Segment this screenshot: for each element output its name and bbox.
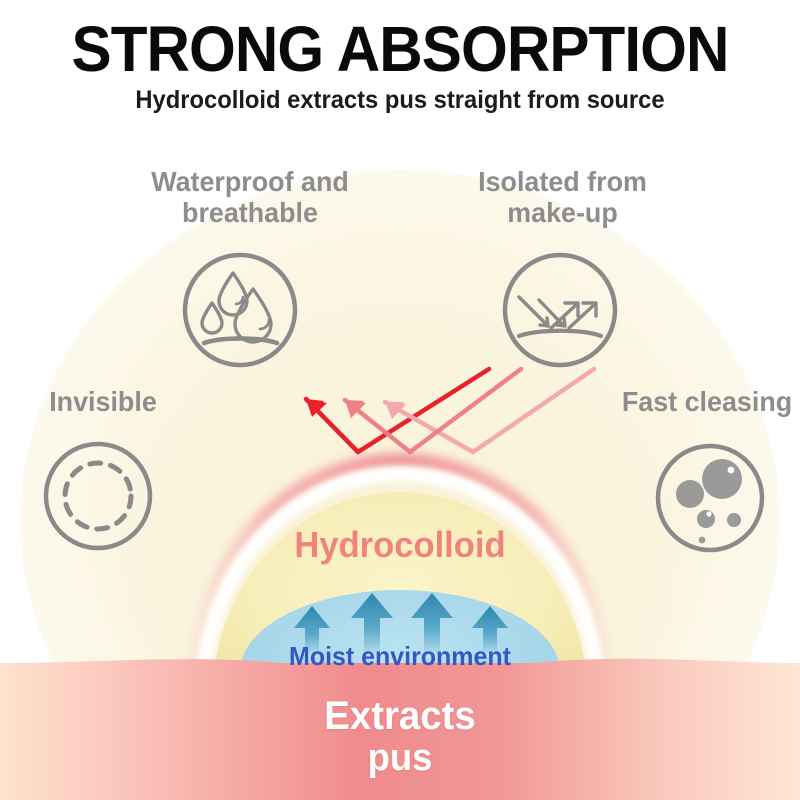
feature-label-isolated: Isolated from make-up [450, 166, 676, 228]
extracts-pus-text: Extracts pus [16, 695, 784, 779]
reflection-arrows-icon [519, 297, 601, 336]
reflection-arrow-medium [345, 369, 521, 452]
icon-ring [658, 446, 762, 550]
water-droplets-icon [202, 273, 277, 343]
feature-icon-waterproof [181, 251, 299, 374]
icon-ring [46, 444, 150, 548]
page-subtitle: Hydrocolloid extracts pus straight from … [20, 86, 780, 115]
icon-ring [505, 255, 615, 365]
extracts-line-2: pus [16, 737, 784, 779]
reflection-arrow-pale [385, 369, 594, 452]
reflection-arrow-bright [306, 369, 489, 452]
feature-label-cleansing: Fast cleasing [616, 386, 798, 417]
feature-icon-invisible [42, 440, 154, 557]
moist-environment-label: Moist environment [16, 641, 784, 672]
extracts-line-1: Extracts [324, 694, 476, 738]
feature-label-waterproof: Waterproof and breathable [120, 166, 379, 228]
feature-icon-isolated [501, 251, 619, 374]
feature-label-invisible: Invisible [21, 386, 184, 417]
dashed-circle-icon [65, 463, 131, 529]
feature-icon-cleansing [652, 440, 768, 561]
infographic-canvas: Hydrocolloid Moist environment Extracts … [0, 0, 800, 800]
page-title: STRONG ABSORPTION [24, 16, 776, 82]
bubbles-icon [676, 459, 742, 543]
reflection-arrow-group [306, 369, 594, 452]
